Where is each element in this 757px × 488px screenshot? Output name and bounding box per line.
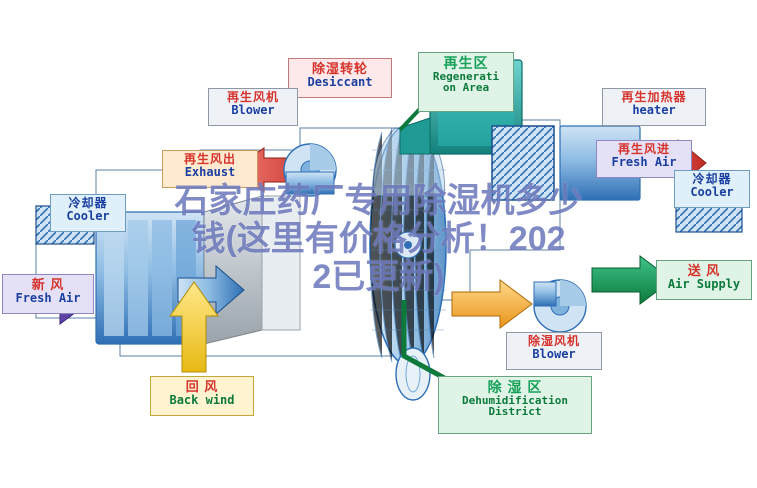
watermark-title: 石家庄药厂专用除湿机多少 钱(这里有价格分析！202 2已更新): [0, 182, 757, 296]
label-regeneration-blower: 再生风机 Blower: [208, 88, 298, 126]
label-dehumidify-blower: 除湿风机 Blower: [506, 332, 602, 370]
label-regeneration-exhaust-en: Exhaust: [163, 166, 257, 179]
label-regeneration-heater-cn: 再生加热器: [603, 91, 705, 104]
label-regeneration-area-cn: 再生区: [419, 56, 513, 71]
label-back-wind-en: Back wind: [151, 394, 253, 407]
watermark-line-1: 石家庄药厂专用除湿机多少: [0, 182, 757, 220]
label-regeneration-area: 再生区 Regenerati on Area: [418, 52, 514, 112]
label-dehumidification-district-cn: 除 湿 区: [439, 380, 591, 395]
watermark-line-3: 2已更新): [0, 258, 757, 296]
label-desiccant-wheel: 除湿转轮 Desiccant: [288, 58, 392, 98]
label-regeneration-inlet-cn: 再生风进: [597, 143, 691, 156]
label-dehumidification-district: 除 湿 区 Dehumidification District: [438, 376, 592, 434]
label-dehumidify-blower-en: Blower: [507, 348, 601, 361]
label-dehumidification-district-en: Dehumidification District: [439, 395, 591, 418]
label-desiccant-wheel-cn: 除湿转轮: [289, 62, 391, 76]
label-desiccant-wheel-en: Desiccant: [289, 76, 391, 89]
label-regeneration-inlet-en: Fresh Air: [597, 156, 691, 169]
label-regeneration-area-en: Regenerati on Area: [419, 71, 513, 94]
label-back-wind: 回 风 Back wind: [150, 376, 254, 416]
label-back-wind-cn: 回 风: [151, 380, 253, 394]
label-regeneration-blower-cn: 再生风机: [209, 91, 297, 104]
wheel-drive: [396, 348, 430, 400]
label-regeneration-exhaust-cn: 再生风出: [163, 153, 257, 166]
label-dehumidify-blower-cn: 除湿风机: [507, 335, 601, 348]
diagram-canvas: 除湿转轮 Desiccant 再生区 Regenerati on Area 再生…: [0, 0, 757, 488]
watermark-line-2: 钱(这里有价格分析！202: [0, 220, 757, 258]
label-regeneration-heater: 再生加热器 heater: [602, 88, 706, 126]
label-regeneration-heater-en: heater: [603, 104, 705, 117]
label-regeneration-blower-en: Blower: [209, 104, 297, 117]
